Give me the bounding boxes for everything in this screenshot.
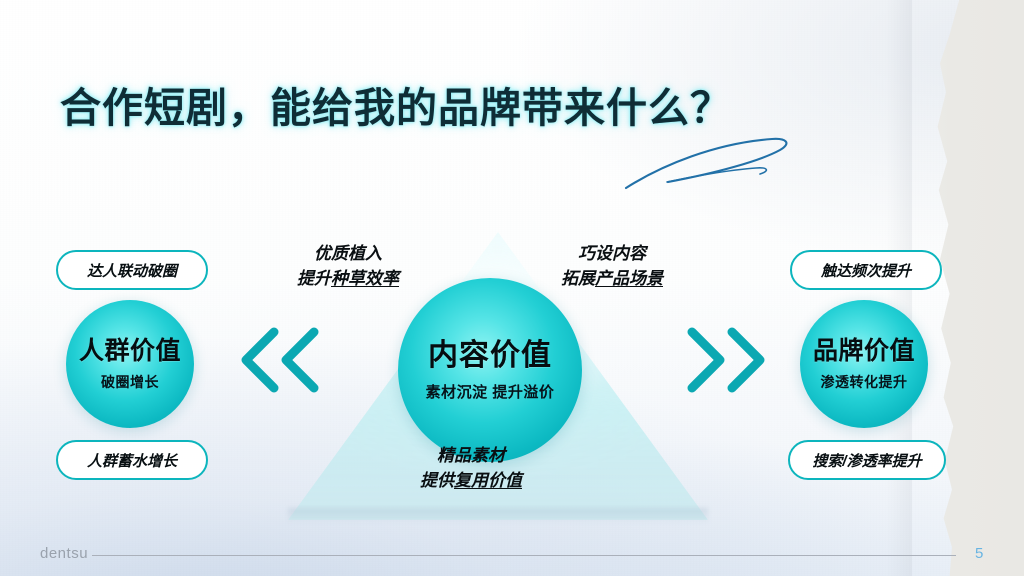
- double-chevron-left-icon: [234, 322, 330, 398]
- pill-right-bottom[interactable]: 搜索/渗透率提升: [788, 440, 946, 480]
- annotation-top-right-line2-plain: 拓展: [561, 269, 595, 288]
- slide-canvas: 合作短剧，能给我的品牌带来什么？ 达人联动破圈 人群价值 破圈增长 人群蓄水增长…: [0, 0, 1024, 576]
- circle-audience-value-title: 人群价值: [79, 339, 181, 364]
- pill-right-top[interactable]: 触达频次提升: [790, 250, 942, 290]
- annotation-bottom-line1: 精品素材: [420, 444, 522, 469]
- circle-brand-value-subtitle: 渗透转化提升: [821, 375, 908, 389]
- annotation-top-right: 巧设内容 拓展产品场景: [561, 242, 663, 291]
- annotation-bottom-line2: 提供复用价值: [420, 469, 522, 494]
- annotation-top-left-line1: 优质植入: [297, 242, 399, 267]
- page-number: 5: [975, 545, 983, 562]
- annotation-top-left-line2: 提升种草效率: [297, 267, 399, 292]
- triangle-base-shadow: [288, 508, 708, 522]
- circle-content-value[interactable]: 内容价值 素材沉淀 提升溢价: [398, 278, 582, 462]
- annotation-top-right-line2-underlined: 产品场景: [595, 269, 663, 288]
- swoosh-decoration-icon: [620, 125, 800, 205]
- annotation-bottom-line2-underlined: 复用价值: [454, 471, 522, 490]
- dentsu-logo: dentsu: [40, 545, 88, 562]
- circle-content-value-title: 内容价值: [428, 341, 552, 371]
- footer-divider: [92, 555, 956, 556]
- circle-audience-value-subtitle: 破圈增长: [101, 375, 159, 389]
- annotation-top-left-line2-underlined: 种草效率: [331, 269, 399, 288]
- circle-content-value-subtitle: 素材沉淀 提升溢价: [426, 385, 555, 400]
- circle-brand-value-title: 品牌价值: [813, 339, 915, 364]
- annotation-top-left-line2-plain: 提升: [297, 269, 331, 288]
- double-chevron-right-icon: [676, 322, 772, 398]
- annotation-bottom: 精品素材 提供复用价值: [420, 444, 522, 493]
- circle-brand-value[interactable]: 品牌价值 渗透转化提升: [800, 300, 928, 428]
- annotation-bottom-line2-plain: 提供: [420, 471, 454, 490]
- circle-audience-value[interactable]: 人群价值 破圈增长: [66, 300, 194, 428]
- annotation-top-left: 优质植入 提升种草效率: [297, 242, 399, 291]
- annotation-top-right-line1: 巧设内容: [561, 242, 663, 267]
- pill-left-bottom[interactable]: 人群蓄水增长: [56, 440, 208, 480]
- annotation-top-right-line2: 拓展产品场景: [561, 267, 663, 292]
- pill-left-top[interactable]: 达人联动破圈: [56, 250, 208, 290]
